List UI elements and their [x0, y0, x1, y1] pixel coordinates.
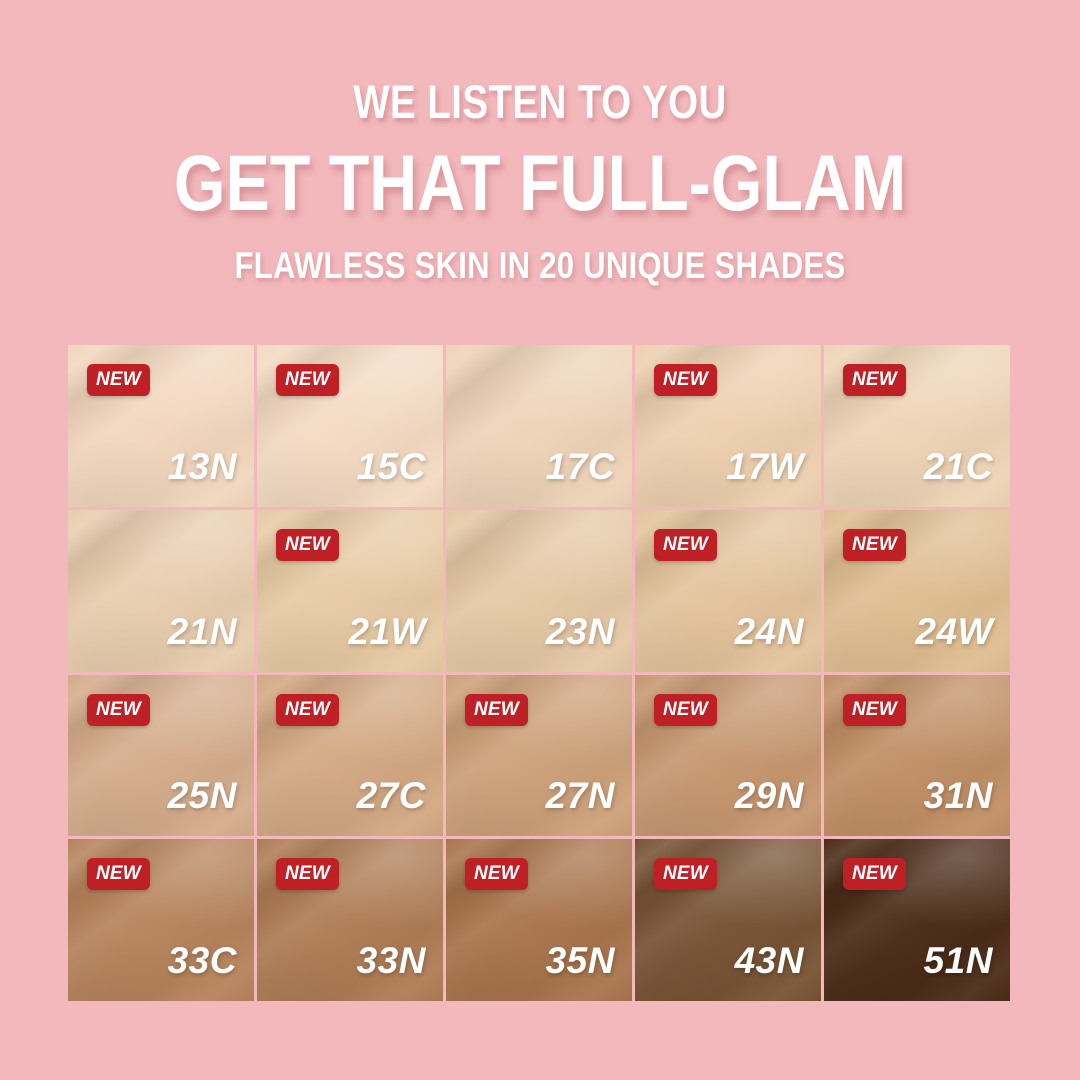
new-badge: NEW: [276, 858, 339, 890]
shade-code-label: 17C: [546, 448, 615, 485]
shade-code-label: 33N: [357, 942, 426, 979]
new-badge: NEW: [843, 364, 906, 396]
shade-code-label: 21W: [348, 613, 426, 650]
new-badge: NEW: [87, 694, 150, 726]
shade-code-label: 15C: [357, 448, 426, 485]
shade-code-label: 24N: [735, 613, 804, 650]
shade-swatch-21w[interactable]: NEW21W: [257, 510, 443, 672]
shade-code-label: 43N: [735, 942, 804, 979]
headline-text: GET THAT FULL-GLAM: [86, 141, 993, 225]
shade-code-label: 21C: [924, 448, 993, 485]
new-badge: NEW: [654, 858, 717, 890]
shade-swatch-29n[interactable]: NEW29N: [635, 675, 821, 837]
shade-code-label: 23N: [546, 613, 615, 650]
new-badge: NEW: [276, 529, 339, 561]
new-badge: NEW: [87, 858, 150, 890]
shade-swatch-grid: NEW13NNEW15CNEW17CNEW17WNEW21CNEW21NNEW2…: [68, 345, 1010, 1001]
kicker-text: WE LISTEN TO YOU: [97, 78, 983, 127]
shade-code-label: 35N: [546, 942, 615, 979]
shade-code-label: 29N: [735, 777, 804, 814]
new-badge: NEW: [654, 529, 717, 561]
new-badge: NEW: [654, 694, 717, 726]
shade-swatch-35n[interactable]: NEW35N: [446, 839, 632, 1001]
new-badge: NEW: [465, 694, 528, 726]
shade-code-label: 13N: [168, 448, 237, 485]
shade-swatch-27n[interactable]: NEW27N: [446, 675, 632, 837]
shade-code-label: 21N: [168, 613, 237, 650]
shade-code-label: 51N: [924, 942, 993, 979]
shade-code-label: 31N: [924, 777, 993, 814]
shade-swatch-27c[interactable]: NEW27C: [257, 675, 443, 837]
shade-swatch-51n[interactable]: NEW51N: [824, 839, 1010, 1001]
shade-code-label: 33C: [168, 942, 237, 979]
shade-code-label: 17W: [726, 448, 804, 485]
shade-code-label: 25N: [168, 777, 237, 814]
new-badge: NEW: [276, 694, 339, 726]
new-badge: NEW: [87, 364, 150, 396]
new-badge: NEW: [843, 858, 906, 890]
shade-swatch-24w[interactable]: NEW24W: [824, 510, 1010, 672]
shade-code-label: 27N: [546, 777, 615, 814]
shade-swatch-43n[interactable]: NEW43N: [635, 839, 821, 1001]
shade-swatch-21c[interactable]: NEW21C: [824, 345, 1010, 507]
shade-swatch-21n[interactable]: NEW21N: [68, 510, 254, 672]
shade-swatch-33c[interactable]: NEW33C: [68, 839, 254, 1001]
new-badge: NEW: [276, 364, 339, 396]
shade-swatch-13n[interactable]: NEW13N: [68, 345, 254, 507]
shade-swatch-17w[interactable]: NEW17W: [635, 345, 821, 507]
new-badge: NEW: [654, 364, 717, 396]
new-badge: NEW: [843, 694, 906, 726]
new-badge: NEW: [843, 529, 906, 561]
shade-swatch-15c[interactable]: NEW15C: [257, 345, 443, 507]
shade-code-label: 27C: [357, 777, 426, 814]
shade-swatch-23n[interactable]: NEW23N: [446, 510, 632, 672]
subline-text: FLAWLESS SKIN IN 20 UNIQUE SHADES: [86, 247, 993, 286]
shade-swatch-24n[interactable]: NEW24N: [635, 510, 821, 672]
promo-header: WE LISTEN TO YOU GET THAT FULL-GLAM FLAW…: [0, 78, 1080, 285]
new-badge: NEW: [465, 858, 528, 890]
shade-swatch-17c[interactable]: NEW17C: [446, 345, 632, 507]
shade-swatch-31n[interactable]: NEW31N: [824, 675, 1010, 837]
shade-swatch-33n[interactable]: NEW33N: [257, 839, 443, 1001]
shade-code-label: 24W: [915, 613, 993, 650]
shade-swatch-25n[interactable]: NEW25N: [68, 675, 254, 837]
